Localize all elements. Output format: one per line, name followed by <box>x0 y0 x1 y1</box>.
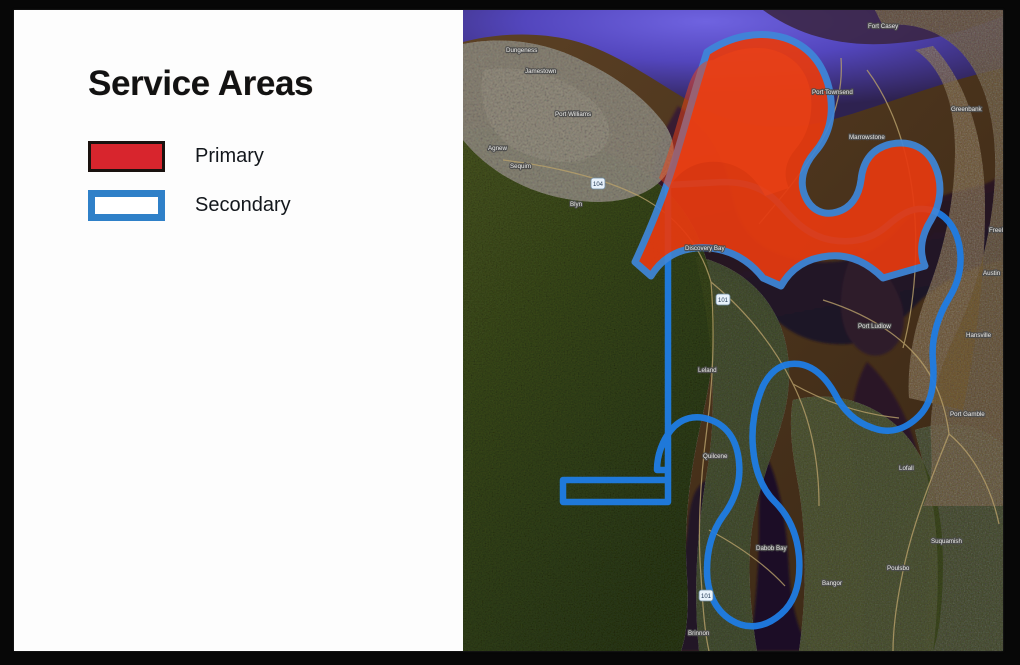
svg-text:101: 101 <box>718 298 729 304</box>
map-place-label: Port Townsend <box>812 89 853 96</box>
map-place-label: Dungeness <box>506 47 537 54</box>
map-place-label: Brinnon <box>688 630 710 637</box>
service-area-map[interactable]: DungenessJamestownPort WilliamsAgnewSequ… <box>463 10 1003 651</box>
map-place-label: Port Ludlow <box>858 323 891 330</box>
route-shield-icon: 101 <box>716 294 730 305</box>
map-place-label: Port Williams <box>555 111 591 118</box>
map-place-label: Suquamish <box>931 538 963 545</box>
map-place-label: Freeland <box>989 227 1003 234</box>
svg-text:104: 104 <box>593 182 604 188</box>
legend-panel: Service Areas Primary Secondary <box>14 10 463 651</box>
map-place-label: Port Gamble <box>950 411 985 418</box>
svg-text:101: 101 <box>701 594 712 600</box>
screenshot-frame: Service Areas Primary Secondary <box>0 0 1020 665</box>
map-place-label: Fort Casey <box>868 23 899 30</box>
map-place-label: Blyn <box>570 201 583 208</box>
map-place-label: Greenbank <box>951 106 983 113</box>
map-place-label: Dabob Bay <box>756 545 788 552</box>
map-place-label: Leland <box>698 367 717 374</box>
map-place-label: Bangor <box>822 580 842 587</box>
legend-label-secondary: Secondary <box>195 194 291 217</box>
legend-swatch-secondary-icon <box>88 190 165 221</box>
map-canvas: DungenessJamestownPort WilliamsAgnewSequ… <box>463 10 1003 651</box>
legend-item-secondary: Secondary <box>88 190 291 221</box>
map-place-label: Agnew <box>488 145 507 152</box>
page-title: Service Areas <box>88 64 313 104</box>
map-place-label: Sequim <box>510 163 531 170</box>
map-place-label: Quilcene <box>703 453 728 460</box>
map-place-label: Marrowstone <box>849 134 885 141</box>
map-place-label: Lofall <box>899 465 914 472</box>
legend-label-primary: Primary <box>195 145 264 168</box>
map-place-label: Austin <box>983 270 1001 277</box>
presentation-slide: Service Areas Primary Secondary <box>14 10 1003 651</box>
route-shield-icon: 104 <box>591 178 605 189</box>
legend-item-primary: Primary <box>88 141 264 172</box>
map-place-label: Jamestown <box>525 68 557 75</box>
route-shield-icon: 101 <box>699 590 713 601</box>
legend-swatch-primary-icon <box>88 141 165 172</box>
map-place-label: Poulsbo <box>887 565 910 572</box>
map-place-label: Discovery Bay <box>685 245 725 252</box>
map-place-label: Hansville <box>966 332 992 339</box>
